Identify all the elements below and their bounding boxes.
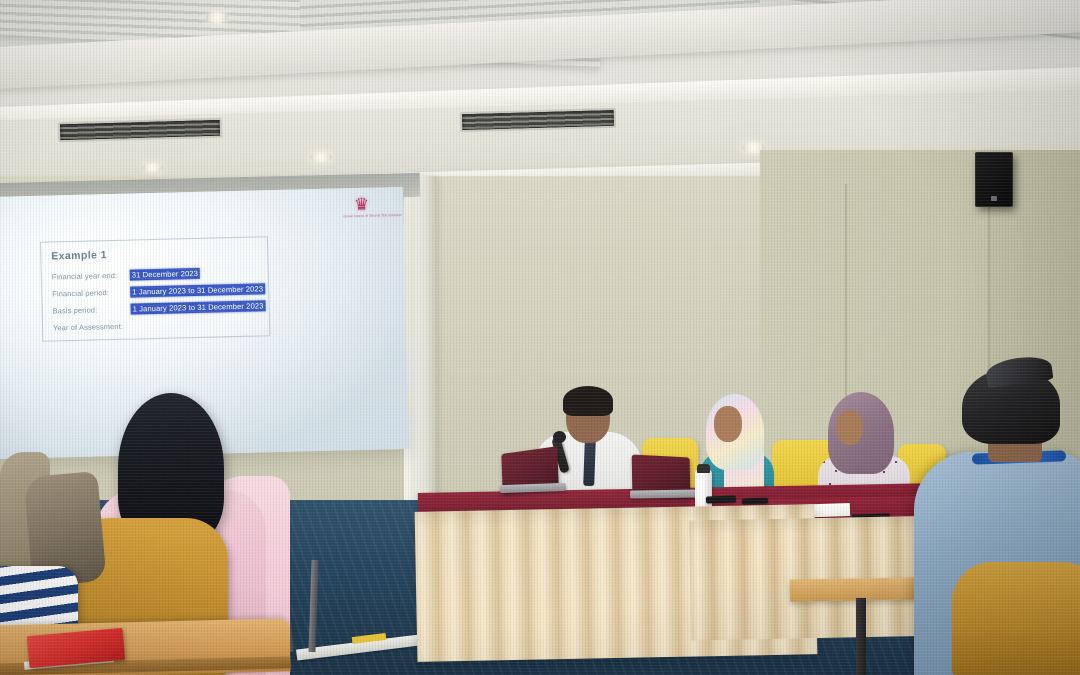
slide-value-basis-period: 1 January 2023 to 31 December 2023 <box>131 300 266 315</box>
logo-caption: Government of Brunei Darussalam <box>343 213 379 218</box>
laptop-keyboard <box>630 489 696 498</box>
seminar-room-photo: ♛ Government of Brunei Darussalam Exampl… <box>0 0 1080 675</box>
ceiling-downlight-icon <box>310 152 332 162</box>
necktie <box>583 440 596 486</box>
panelist-face <box>836 410 863 445</box>
panelist-face <box>714 406 742 442</box>
wall-speaker-icon <box>975 152 1013 207</box>
slide-content-box: Example 1 Financial year end: 31 Decembe… <box>40 236 270 342</box>
microphone-capsule <box>553 431 566 443</box>
slide-label-basis-period: Basis period: <box>53 305 131 316</box>
slide-row: Year of Assessment: <box>53 315 259 335</box>
mobile-phone <box>742 498 768 505</box>
speaker-hair <box>563 386 613 416</box>
ceiling-downlight-icon <box>142 163 163 172</box>
slide-label-financial-year-end: Financial year end: <box>52 271 130 282</box>
speaker-badge <box>991 196 997 201</box>
slide-value-financial-year-end: 31 December 2023 <box>130 268 200 281</box>
banquet-chair <box>952 562 1080 675</box>
slide-logo: ♛ Government of Brunei Darussalam <box>343 195 380 226</box>
water-bottle-cap <box>697 464 710 473</box>
crown-icon: ♛ <box>343 195 379 213</box>
slide-label-year-of-assessment: Year of Assessment: <box>53 322 131 333</box>
audience-table-right-leg <box>856 598 866 675</box>
wall-column <box>414 176 436 506</box>
slide-title: Example 1 <box>51 245 257 262</box>
ceiling-downlight-icon <box>206 12 228 23</box>
slide-value-financial-period: 1 January 2023 to 31 December 2023 <box>130 283 265 298</box>
mobile-phone <box>706 495 736 503</box>
slide-label-financial-period: Financial period: <box>52 288 130 299</box>
